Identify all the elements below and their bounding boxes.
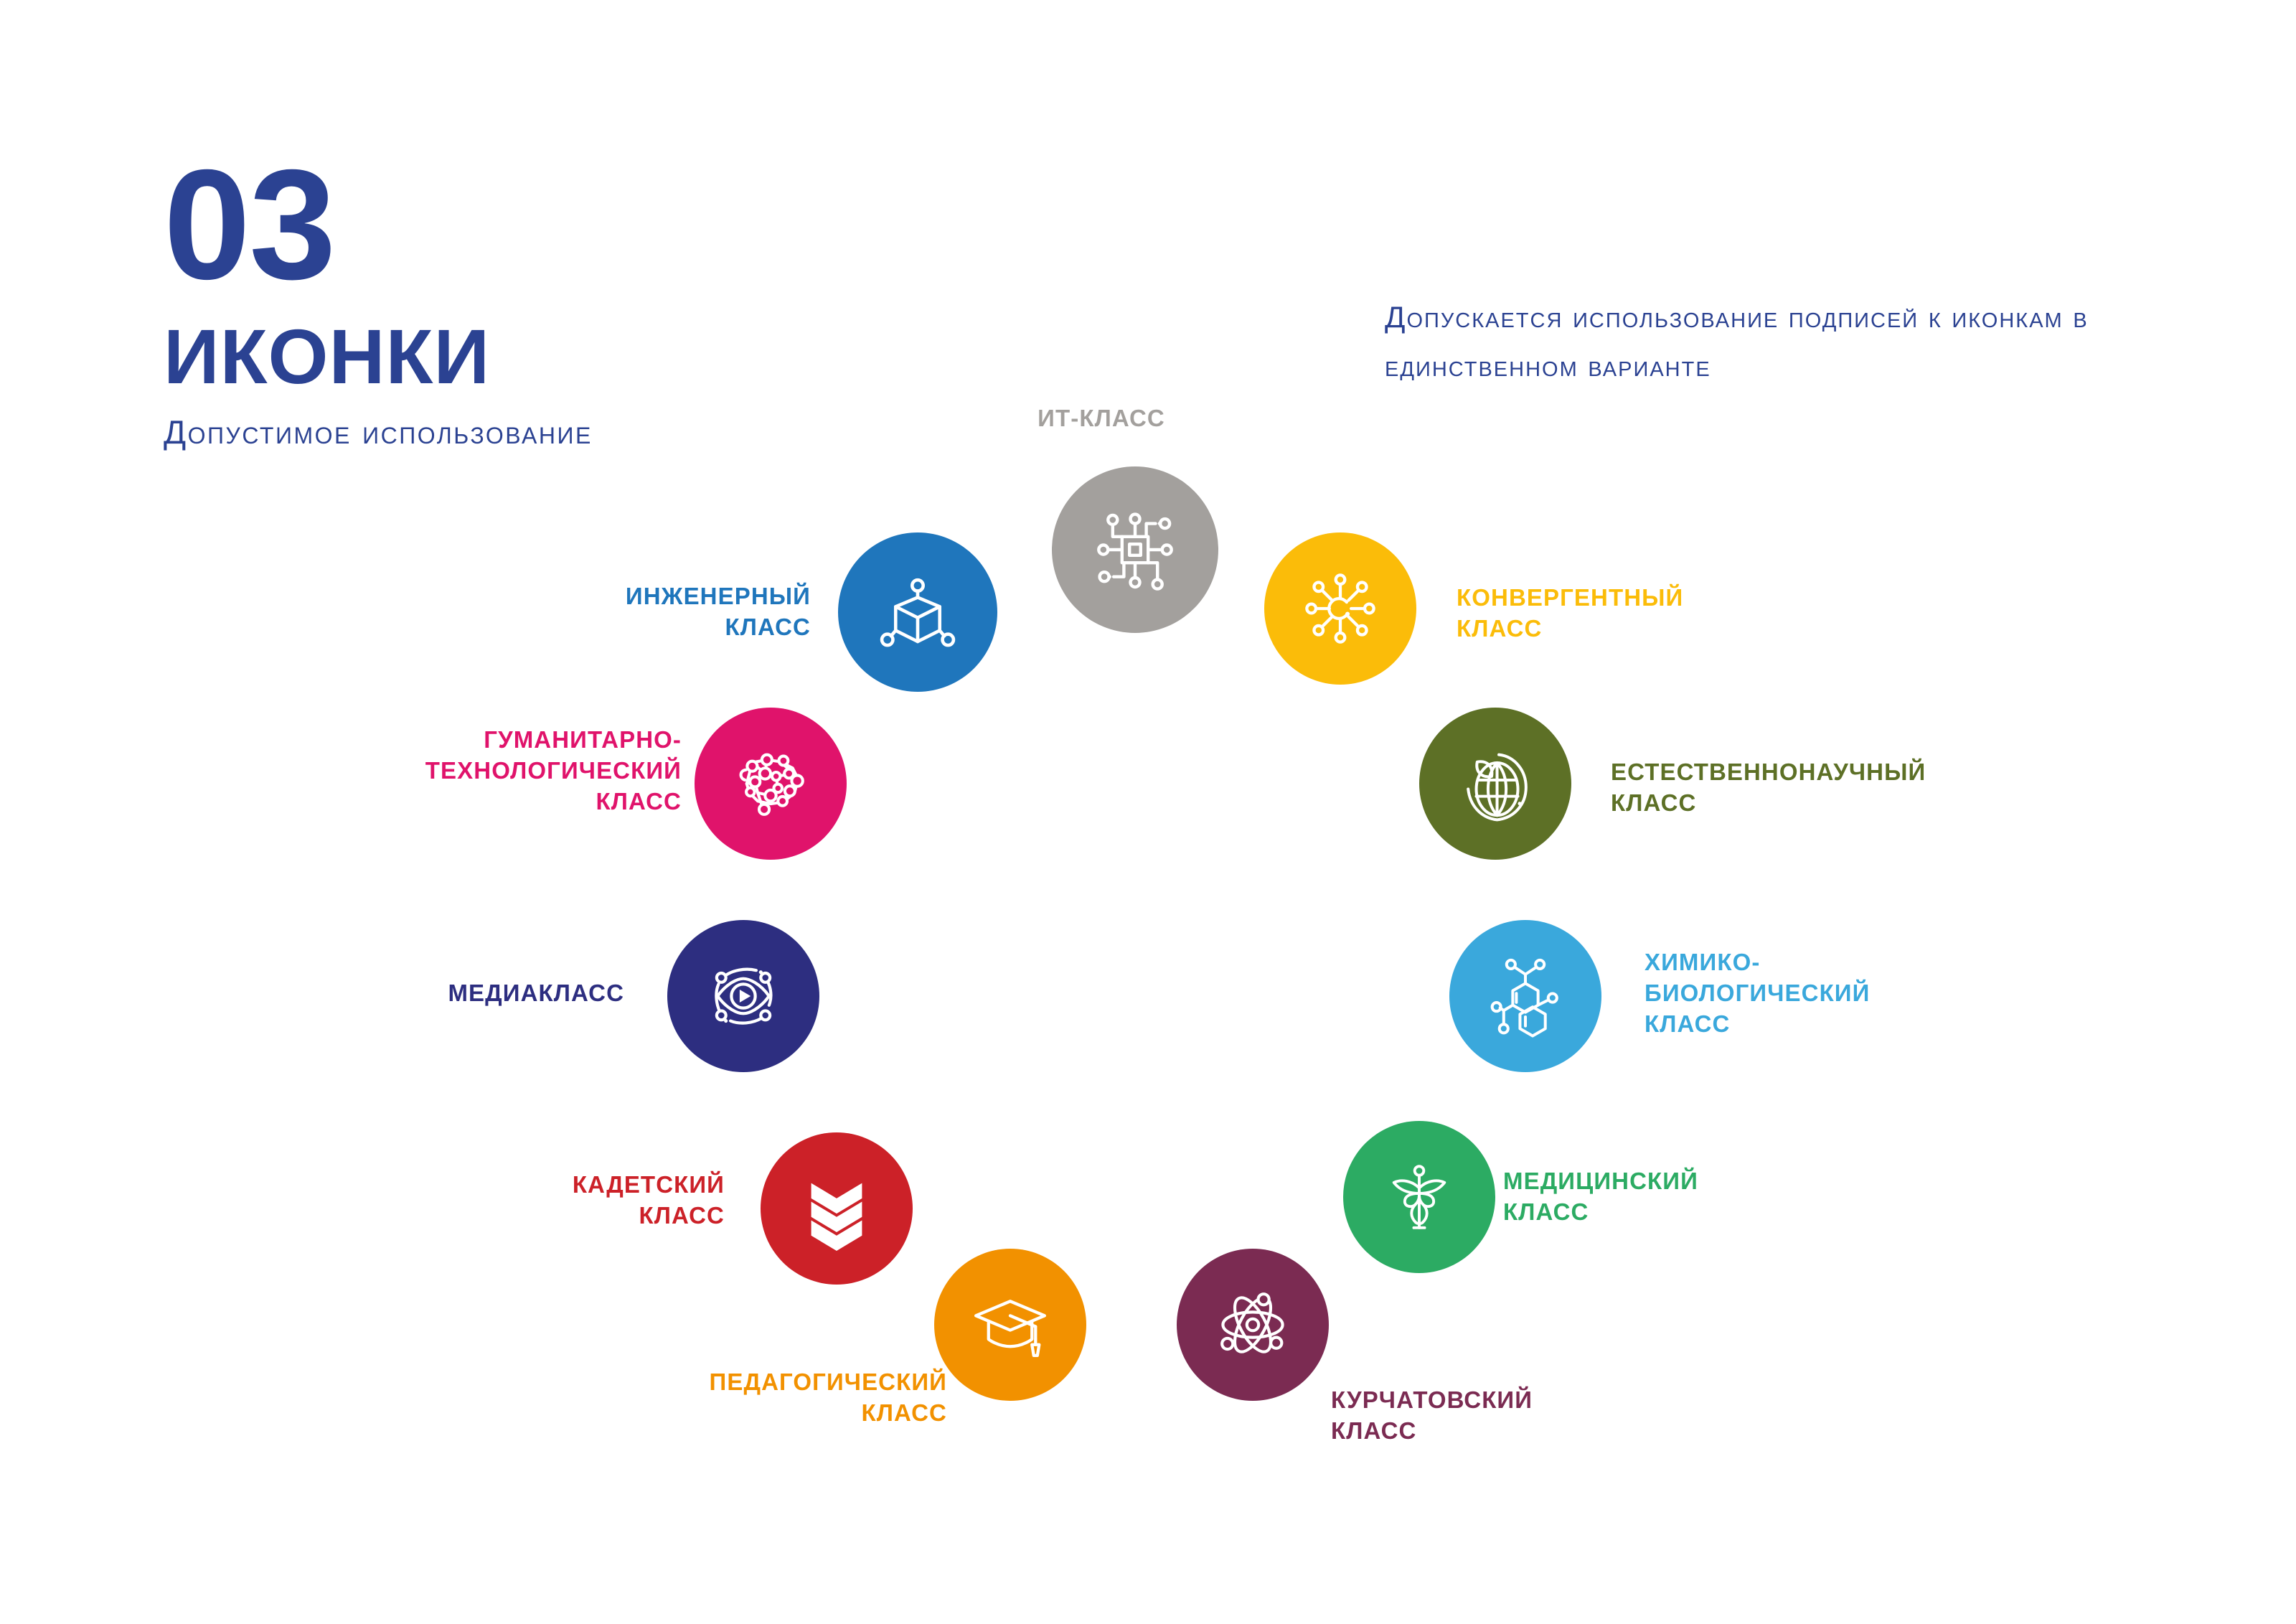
icon-bubble-engineering-class[interactable] bbox=[838, 532, 997, 692]
icon-bubble-medical-class[interactable] bbox=[1343, 1121, 1495, 1273]
icon-bubble-media-class[interactable] bbox=[667, 920, 819, 1072]
icon-bubble-cadet-class[interactable] bbox=[761, 1132, 913, 1285]
usage-note: Допускается использование подписей к ико… bbox=[1385, 293, 2231, 390]
icon-bubble-convergent-class[interactable] bbox=[1264, 532, 1416, 685]
cube-node-icon bbox=[872, 566, 964, 658]
brain-network-icon bbox=[725, 738, 817, 830]
icon-label-natural-science-class: ЕСТЕСТВЕННОНАУЧНЫЙ КЛАСС bbox=[1611, 757, 2099, 819]
page-subtitle: Допустимое использование bbox=[164, 413, 953, 451]
icon-bubble-it-class[interactable] bbox=[1052, 466, 1218, 633]
page-title: ИКОНКИ bbox=[164, 318, 953, 395]
icon-bubble-pedagogical-class[interactable] bbox=[934, 1249, 1086, 1401]
icon-label-pedagogical-class: ПЕДАГОГИЧЕСКИЙ КЛАСС bbox=[552, 1367, 947, 1429]
icon-label-medical-class: МЕДИЦИНСКИЙ КЛАСС bbox=[1503, 1166, 1840, 1228]
atom-icon bbox=[1208, 1280, 1298, 1370]
icon-label-humanities-technology-class: ГУМАНИТАРНО- ТЕХНОЛОГИЧЕСКИЙ КЛАСС bbox=[309, 725, 682, 817]
icon-bubble-natural-science-class[interactable] bbox=[1419, 708, 1571, 860]
icon-label-engineering-class: ИНЖЕНЕРНЫЙ КЛАСС bbox=[452, 581, 811, 643]
icon-label-chemistry-biology-class: ХИМИКО- БИОЛОГИЧЕСКИЙ КЛАСС bbox=[1645, 947, 2018, 1040]
slide-canvas: 03 ИКОНКИ Допустимое использование Допус… bbox=[0, 0, 2296, 1624]
icon-bubble-humanities-technology-class[interactable] bbox=[695, 708, 847, 860]
icon-label-it-class: ИТ-КЛАСС bbox=[1008, 403, 1195, 434]
globe-leaf-icon bbox=[1450, 738, 1540, 829]
icon-label-media-class: МЕДИАКЛАСС bbox=[309, 978, 624, 1009]
icon-label-kurchatov-class: КУРЧАТОВСКИЙ КЛАСС bbox=[1331, 1385, 1704, 1447]
eye-play-orbit-icon bbox=[697, 950, 789, 1042]
microchip-icon bbox=[1088, 503, 1182, 596]
radial-nodes-icon bbox=[1295, 563, 1385, 654]
graduation-cap-icon bbox=[965, 1280, 1055, 1370]
icon-bubble-kurchatov-class[interactable] bbox=[1177, 1249, 1329, 1401]
chevrons-icon bbox=[794, 1166, 879, 1251]
icon-label-cadet-class: КАДЕТСКИЙ КЛАСС bbox=[402, 1170, 725, 1231]
section-number: 03 bbox=[164, 151, 953, 299]
caduceus-icon bbox=[1374, 1152, 1464, 1242]
molecule-icon bbox=[1480, 951, 1571, 1041]
title-block: 03 ИКОНКИ Допустимое использование bbox=[164, 151, 953, 451]
icon-label-convergent-class: КОНВЕРГЕНТНЫЙ КЛАСС bbox=[1457, 583, 1830, 644]
icon-bubble-chemistry-biology-class[interactable] bbox=[1449, 920, 1601, 1072]
